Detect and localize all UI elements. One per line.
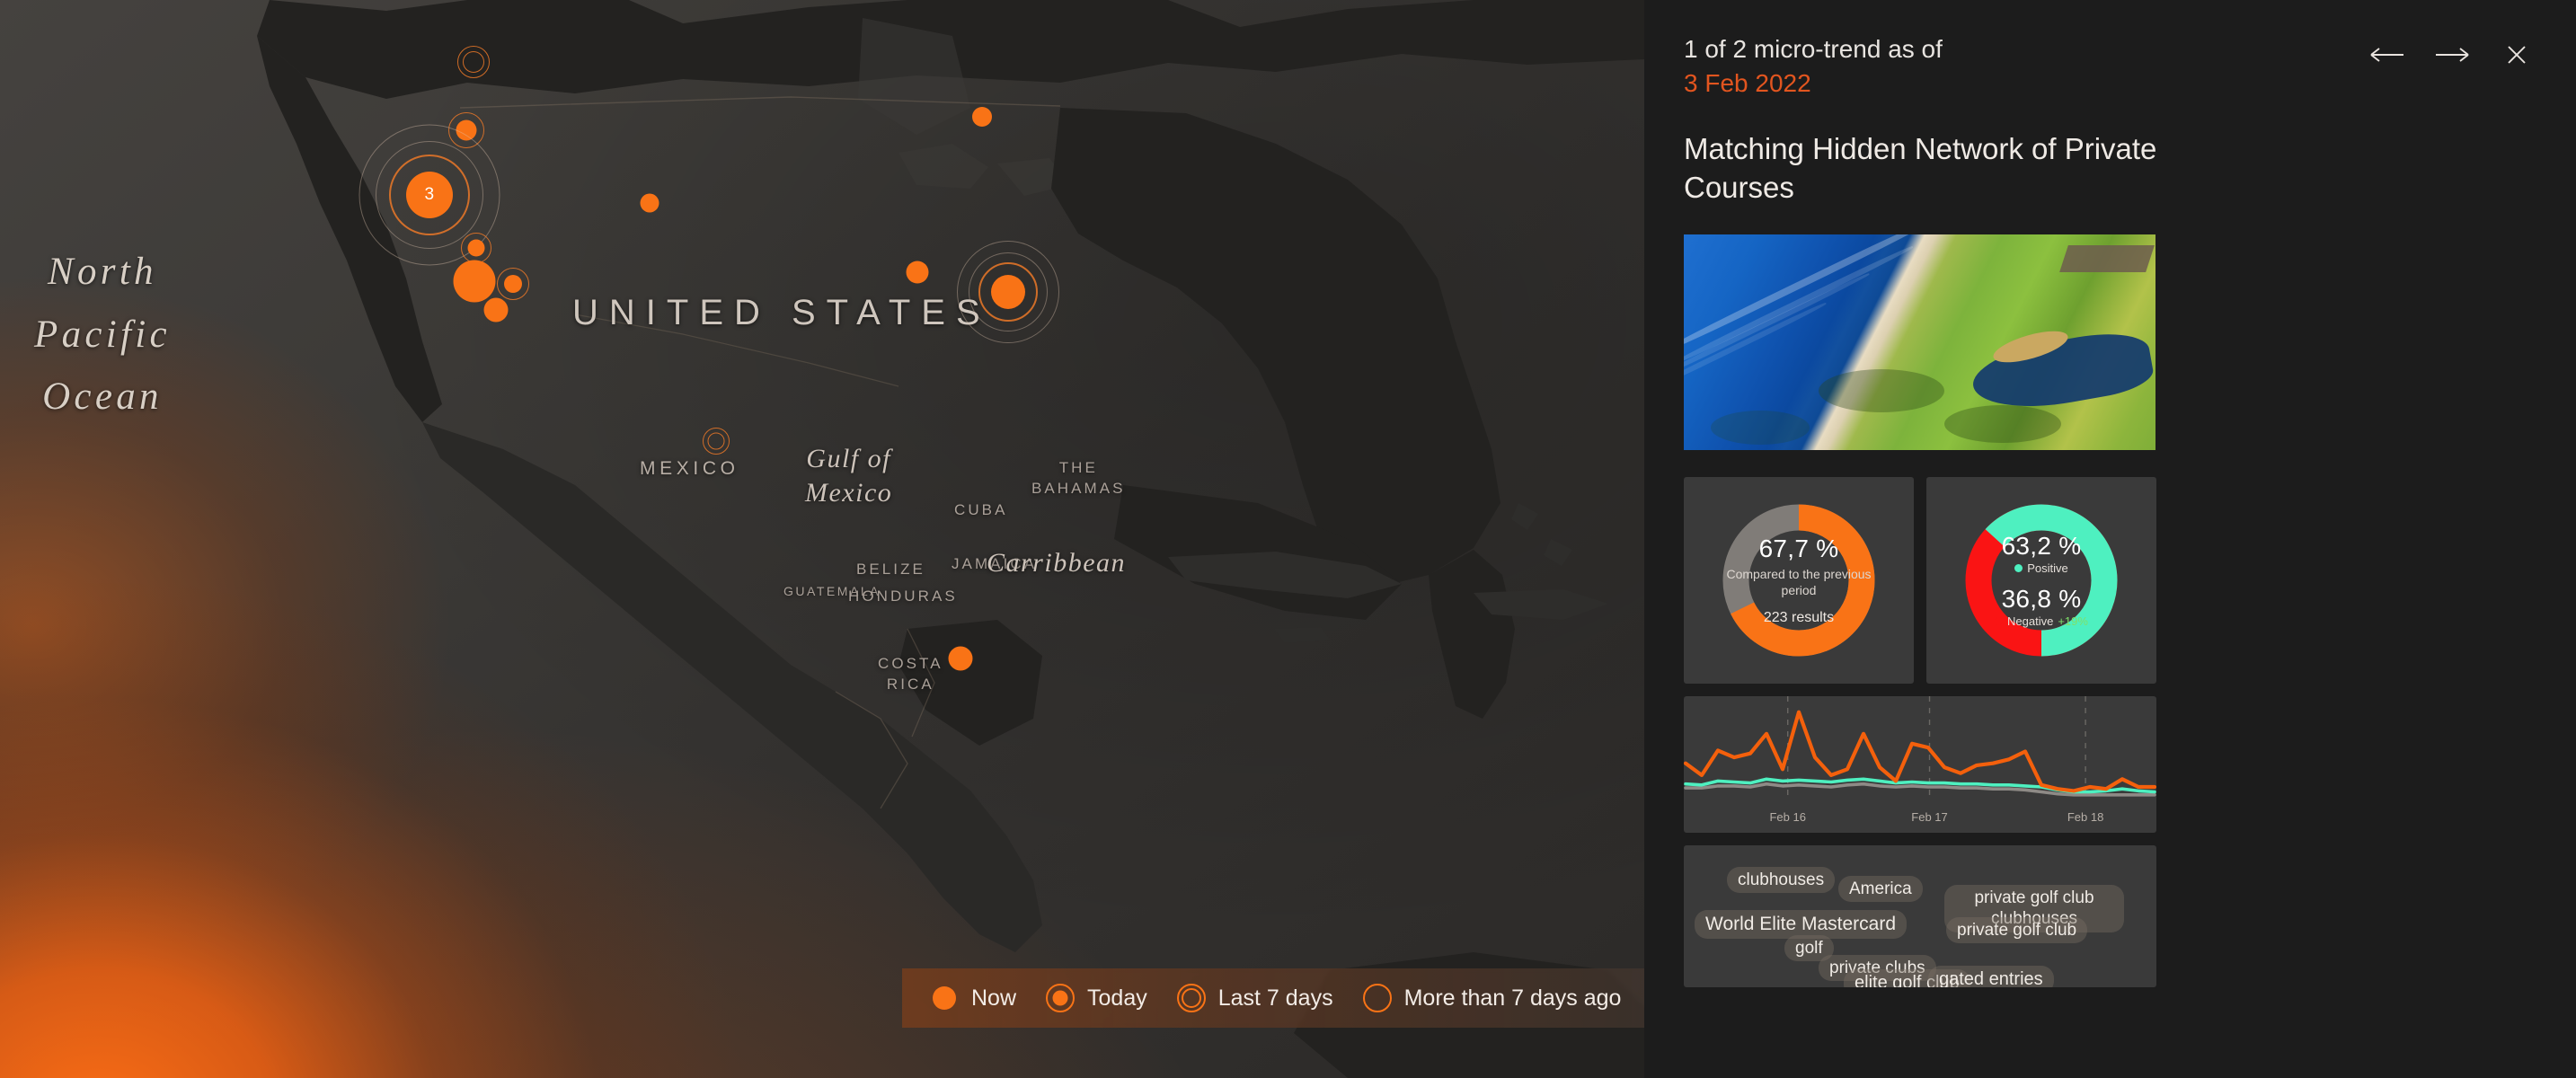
legend-label-more-than-7-days: More than 7 days ago [1404, 985, 1622, 1012]
x-tick-label: Feb 16 [1769, 810, 1805, 824]
panel-nav [2368, 32, 2536, 70]
last-7-days-marker-icon [1176, 983, 1207, 1013]
x-tick-label: Feb 18 [2067, 810, 2103, 824]
sentiment-positive-label: Positive [2027, 561, 2068, 575]
x-tick-label: Feb 17 [1911, 810, 1947, 824]
keyword-tag[interactable]: America [1838, 876, 1923, 903]
sentiment-donut-chart: 63,2 % Positive 36,8 % Negative +19% [1962, 501, 2120, 659]
sentiment-negative-legend: Negative +19% [1995, 614, 2088, 628]
keyword-tag[interactable]: private golf club [1946, 917, 2087, 944]
legend-label-last-7-days: Last 7 days [1218, 985, 1333, 1012]
legend-label-now: Now [971, 985, 1016, 1012]
volume-donut-chart: 67,7 % Compared to the previous period 2… [1720, 501, 1878, 659]
legend-item-last-7-days[interactable]: Last 7 days [1162, 983, 1348, 1013]
legend-item-more-than-7-days[interactable]: More than 7 days ago [1348, 983, 1636, 1013]
legend-item-today[interactable]: Today [1031, 983, 1162, 1013]
close-icon[interactable] [2497, 40, 2536, 70]
micro-trend-title: Matching Hidden Network of Private Cours… [1684, 129, 2259, 208]
negative-swatch-icon [1995, 617, 2003, 625]
metric-cards: 67,7 % Compared to the previous period 2… [1684, 477, 2536, 684]
sentiment-positive-legend: Positive [2014, 561, 2068, 575]
keyword-tag-cloud[interactable]: clubhousesAmericaprivate golf club clubh… [1684, 845, 2156, 987]
map-cluster-count: 3 [425, 185, 435, 205]
volume-comparison-label: Compared to the previous period [1720, 566, 1878, 598]
keyword-tag[interactable]: clubhouses [1727, 867, 1835, 894]
map-legend: Now Today Last 7 days More than 7 days a… [902, 968, 1644, 1028]
trend-map-application: NorthPacificOcean UNITED STATES MEXICO G… [0, 0, 2576, 1078]
map-label-gulf-of-mexico: Gulf ofMexico [805, 442, 892, 509]
sentiment-negative-percent: 36,8 % [2002, 585, 2082, 614]
volume-donut-card: 67,7 % Compared to the previous period 2… [1684, 477, 1914, 684]
panel-counter: 1 of 2 micro-trend as of [1684, 35, 1943, 63]
positive-swatch-icon [2014, 564, 2023, 572]
legend-item-now[interactable]: Now [902, 983, 1031, 1013]
volume-percent: 67,7 % [1759, 535, 1839, 563]
map-label-caribbean: Carribbean [987, 546, 1126, 580]
now-marker-icon [929, 983, 960, 1013]
sentiment-negative-label: Negative [2007, 614, 2053, 628]
map-label-cuba: CUBA [954, 501, 1007, 519]
micro-trend-detail-panel: 1 of 2 micro-trend as of 3 Feb 2022 [1644, 0, 2576, 1078]
timeline-x-axis-ticks: Feb 16Feb 17Feb 18 [1684, 810, 2156, 826]
next-arrow-icon[interactable] [2432, 40, 2472, 70]
map-label-honduras: HONDURAS [848, 588, 958, 605]
timeline-chart-card[interactable]: Feb 16Feb 17Feb 18 [1684, 696, 2156, 833]
panel-date: 3 Feb 2022 [1684, 66, 1943, 101]
previous-arrow-icon[interactable] [2368, 40, 2407, 70]
sentiment-positive-percent: 63,2 % [2002, 532, 2082, 561]
trend-thumbnail-image[interactable] [1684, 234, 2156, 450]
sentiment-donut-card: 63,2 % Positive 36,8 % Negative +19% [1926, 477, 2156, 684]
panel-header: 1 of 2 micro-trend as of 3 Feb 2022 [1684, 32, 2536, 101]
series-mentions [1686, 711, 2155, 791]
panel-counter-block: 1 of 2 micro-trend as of 3 Feb 2022 [1684, 32, 1943, 101]
volume-results-count: 223 results [1764, 610, 1834, 626]
map-label-belize: BELIZE [856, 561, 925, 579]
map-canvas[interactable]: NorthPacificOcean UNITED STATES MEXICO G… [0, 0, 1644, 1078]
map-label-the-bahamas: THEBAHAMAS [1031, 458, 1126, 499]
more-than-7-days-marker-icon [1362, 983, 1393, 1013]
sentiment-delta: +19% [2058, 614, 2088, 628]
map-landmasses [0, 0, 1644, 1078]
map-label-north-pacific-ocean: NorthPacificOcean [34, 241, 171, 429]
map-label-united-states: UNITED STATES [572, 293, 991, 333]
map-label-mexico: MEXICO [640, 458, 739, 480]
map-label-costa-rica: COSTARICA [878, 654, 943, 695]
today-marker-icon [1045, 983, 1076, 1013]
keyword-tag[interactable]: gated entries [1928, 966, 2054, 987]
legend-label-today: Today [1087, 985, 1147, 1012]
